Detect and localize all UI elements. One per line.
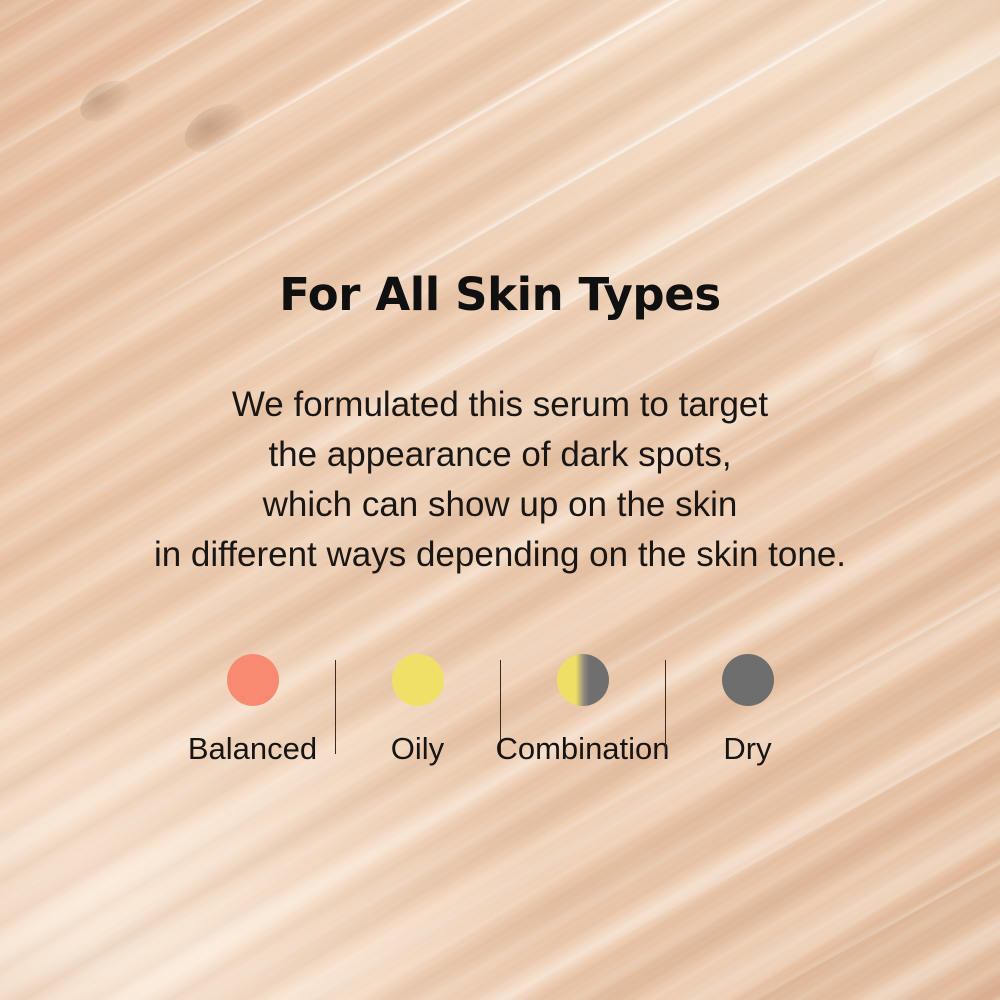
skin-type-dry: Dry: [666, 648, 830, 766]
dry-swatch-icon: [722, 654, 774, 706]
content-area: For All Skin Types We formulated this se…: [0, 0, 1000, 1000]
oily-swatch-icon: [392, 654, 444, 706]
skin-type-label: Balanced: [188, 732, 317, 766]
skin-types-row: Balanced Oily Combination Dry: [0, 648, 1000, 768]
page-title: For All Skin Types: [0, 272, 1000, 317]
skin-type-label: Dry: [723, 732, 771, 766]
skin-type-combination: Combination: [501, 648, 665, 766]
skin-type-oily: Oily: [336, 648, 500, 766]
combination-swatch-icon: [557, 654, 609, 706]
skin-type-balanced: Balanced: [171, 648, 335, 766]
balanced-swatch-icon: [227, 654, 279, 706]
body-line-2: the appearance of dark spots,: [0, 430, 1000, 480]
body-line-3: which can show up on the skin: [0, 480, 1000, 530]
body-copy: We formulated this serum to target the a…: [0, 380, 1000, 580]
product-info-card: For All Skin Types We formulated this se…: [0, 0, 1000, 1000]
body-line-1: We formulated this serum to target: [0, 380, 1000, 430]
body-line-4: in different ways depending on the skin …: [0, 530, 1000, 580]
skin-type-label: Combination: [495, 732, 669, 766]
skin-type-label: Oily: [391, 732, 444, 766]
